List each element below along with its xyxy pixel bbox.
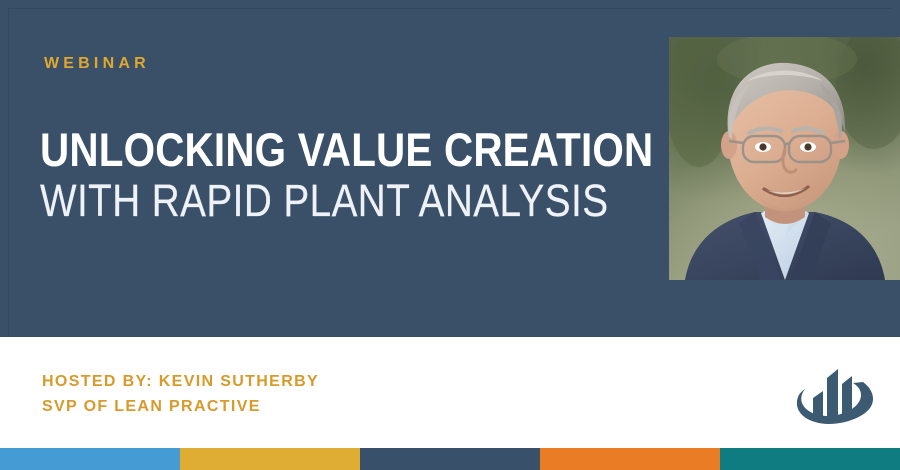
- headline-secondary: WITH RAPID PLANT ANALYSIS: [40, 176, 565, 226]
- webinar-promo-banner: WEBINAR UNLOCKING VALUE CREATION WITH RA…: [0, 0, 900, 470]
- headline-block: UNLOCKING VALUE CREATION WITH RAPID PLAN…: [40, 126, 650, 227]
- headline-primary: UNLOCKING VALUE CREATION: [40, 126, 565, 174]
- hero-panel: WEBINAR UNLOCKING VALUE CREATION WITH RA…: [0, 0, 900, 337]
- speaker-photo: [669, 37, 900, 280]
- eyebrow-label: WEBINAR: [44, 56, 150, 72]
- stripe-orange: [540, 448, 720, 470]
- stripe-blue: [0, 448, 180, 470]
- stripe-teal: [720, 448, 900, 470]
- company-logo-icon: [793, 350, 877, 432]
- host-name-line: HOSTED BY: KEVIN SUTHERBY: [42, 370, 319, 395]
- stripe-gold: [180, 448, 360, 470]
- footer-band: HOSTED BY: KEVIN SUTHERBY SVP OF LEAN PR…: [0, 337, 900, 448]
- host-title-line: SVP OF LEAN PRACTIVE: [42, 395, 319, 420]
- color-stripe-bar: [0, 448, 900, 470]
- stripe-slate: [360, 448, 540, 470]
- host-info: HOSTED BY: KEVIN SUTHERBY SVP OF LEAN PR…: [42, 370, 319, 420]
